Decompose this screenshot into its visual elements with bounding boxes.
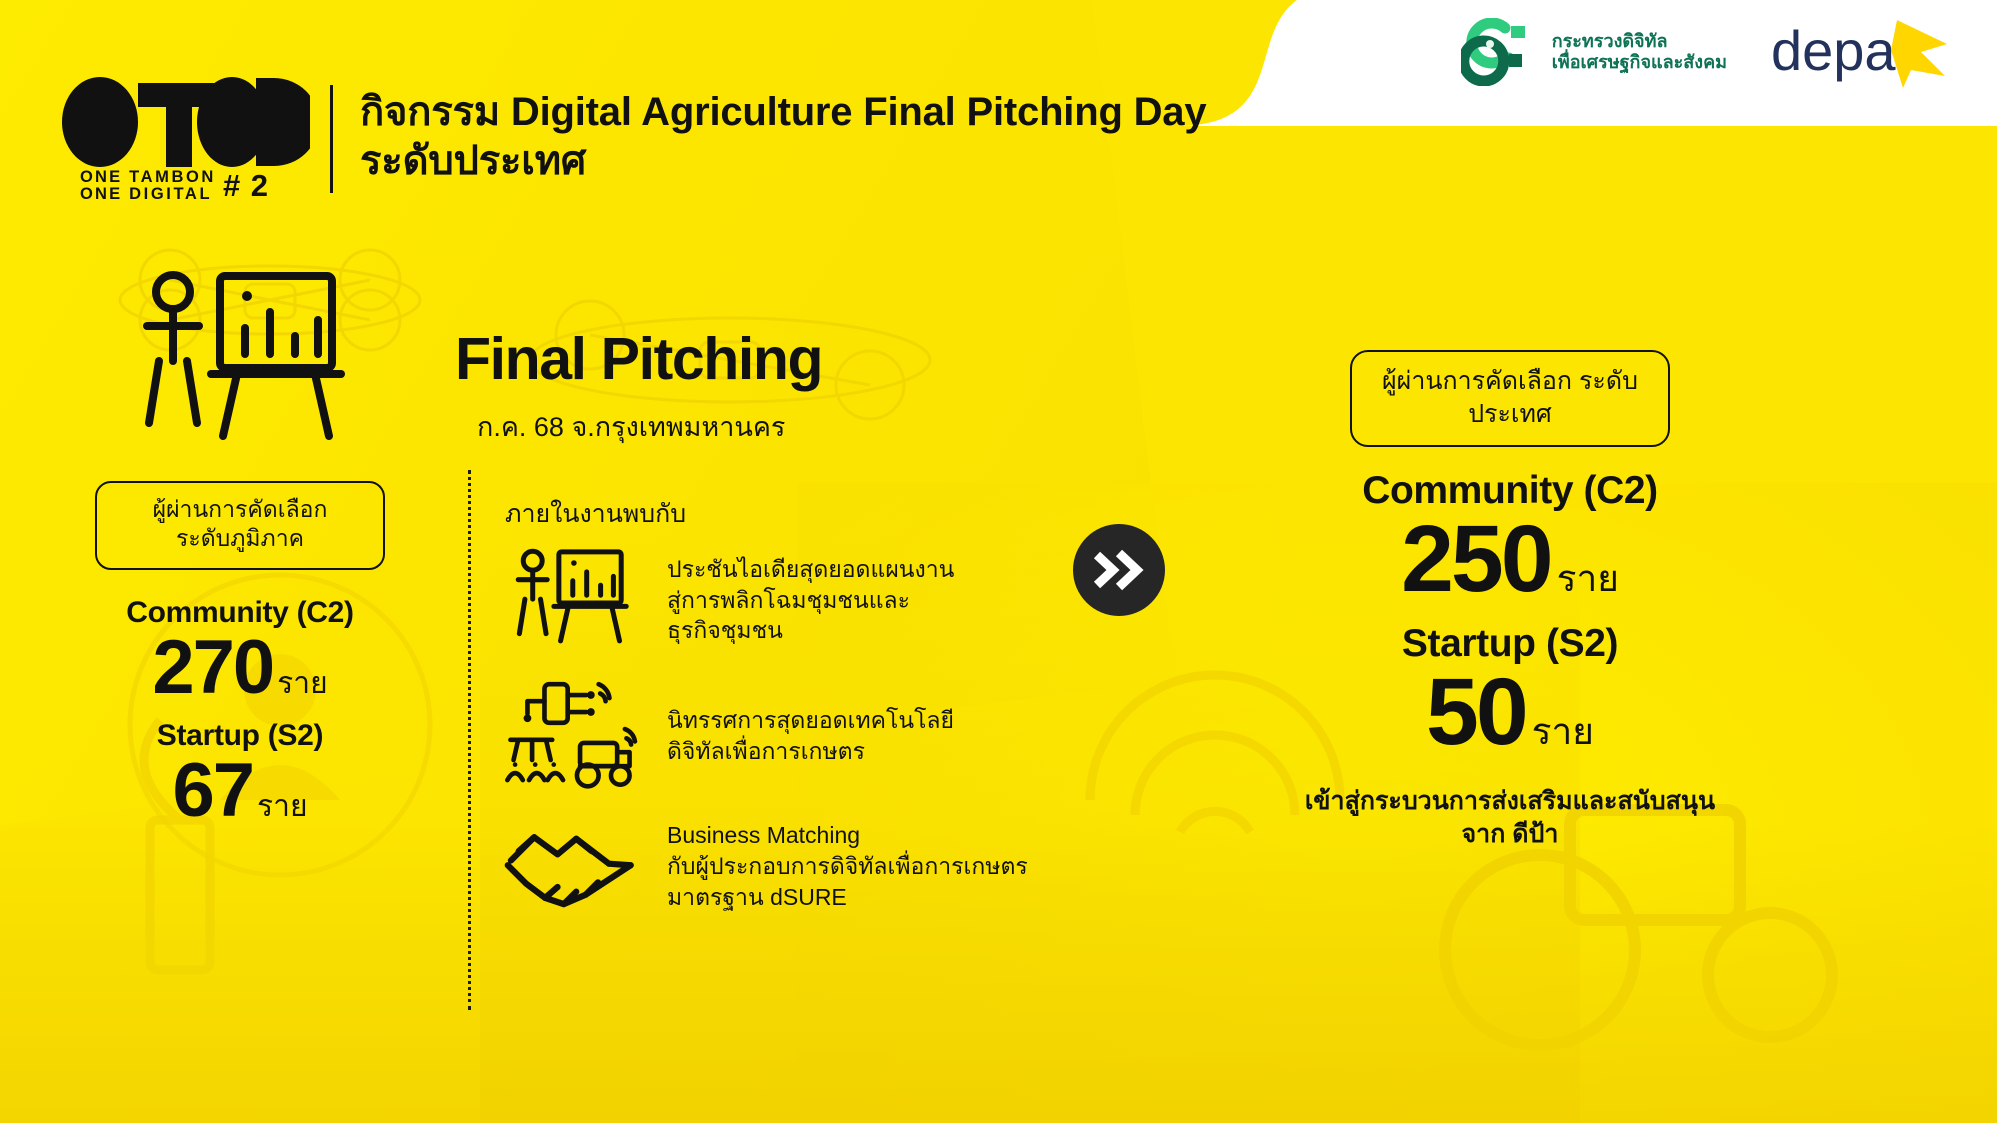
- left-badge-line2: ระดับภูมิภาค: [107, 524, 373, 553]
- feature-list: ประชันไอเดียสุดยอดแผนงาน สู่การพลิกโฉมชุ…: [495, 548, 1095, 912]
- double-chevron-right-icon: [1091, 549, 1147, 591]
- right-stats-column: ผู้ผ่านการคัดเลือก ระดับประเทศ Community…: [1280, 350, 1740, 850]
- right-footnote-line2: จาก ดีป้า: [1280, 818, 1740, 851]
- page-title-line1: กิจกรรม Digital Agriculture Final Pitchi…: [360, 90, 1206, 134]
- feature-2-line-1: นิทรรศการสุดยอดเทคโนโลยี: [667, 705, 954, 736]
- right-badge-line1: ผู้ผ่านการคัดเลือก: [1382, 367, 1572, 395]
- feature-icon-wrap: [495, 678, 645, 794]
- presentation-easel-icon: [125, 270, 355, 455]
- progress-arrow-badge: [1073, 524, 1165, 616]
- otod-line2-light: ONE: [80, 185, 122, 203]
- feature-item: ประชันไอเดียสุดยอดแผนงาน สู่การพลิกโฉมชุ…: [495, 548, 1095, 652]
- otod-line1-bold: TAMBON: [129, 168, 216, 186]
- right-footnote-line1: เข้าสู่กระบวนการส่งเสริมและสนับสนุน: [1280, 785, 1740, 818]
- left-badge-line1: ผู้ผ่านการคัดเลือก: [107, 495, 373, 524]
- feature-1-line-3: ธุรกิจชุมชน: [667, 615, 954, 646]
- right-stat-community: Community (C2) 250 ราย: [1280, 469, 1740, 608]
- feature-3-line-3: มาตรฐาน dSURE: [667, 882, 1028, 913]
- right-stat-community-value: 250: [1401, 513, 1551, 606]
- ministry-logo: กระทรวงดิจิทัล เพื่อเศรษฐกิจและสังคม: [1461, 18, 1727, 86]
- feature-item: Business Matching กับผู้ประกอบการดิจิทัล…: [495, 820, 1095, 912]
- right-stat-startup: Startup (S2) 50 ราย: [1280, 622, 1740, 761]
- left-badge: ผู้ผ่านการคัดเลือก ระดับภูมิภาค: [95, 481, 385, 570]
- header-divider: [330, 85, 333, 193]
- feature-1-line-2: สู่การพลิกโฉมชุมชนและ: [667, 585, 954, 616]
- page-title: กิจกรรม Digital Agriculture Final Pitchi…: [360, 88, 1480, 186]
- left-stat-startup: Startup (S2) 67 ราย: [80, 719, 400, 830]
- infographic-canvas: ONE TAMBON ONE DIGITAL # 2 กิจกรรม Digit…: [0, 0, 1997, 1123]
- left-stat-startup-value: 67: [172, 753, 253, 829]
- feature-2-line-2: ดิจิทัลเพื่อการเกษตร: [667, 736, 954, 767]
- center-column: Final Pitching ก.ค. 68 จ.กรุงเทพมหานคร ภ…: [455, 330, 1095, 912]
- otod-tagline: ONE TAMBON ONE DIGITAL # 2: [80, 168, 269, 204]
- feature-1-line-1: ประชันไอเดียสุดยอดแผนงาน: [667, 554, 954, 585]
- feature-item: นิทรรศการสุดยอดเทคโนโลยี ดิจิทัลเพื่อการ…: [495, 678, 1095, 794]
- depa-logo: depa: [1771, 14, 1961, 90]
- left-stat-community-unit: ราย: [277, 660, 328, 707]
- feature-text: Business Matching กับผู้ประกอบการดิจิทัล…: [667, 820, 1028, 912]
- left-stat-startup-unit: ราย: [257, 783, 308, 830]
- feature-icon-wrap: [495, 548, 645, 652]
- otod-logo: ONE TAMBON ONE DIGITAL # 2: [60, 76, 310, 168]
- handshake-icon: [500, 820, 640, 912]
- feature-3-line-1: Business Matching: [667, 820, 1028, 851]
- right-footnote: เข้าสู่กระบวนการส่งเสริมและสนับสนุน จาก …: [1280, 785, 1740, 850]
- otod-edition-number: # 2: [223, 168, 269, 204]
- left-easel-illustration: [80, 270, 400, 455]
- right-badge: ผู้ผ่านการคัดเลือก ระดับประเทศ: [1350, 350, 1670, 447]
- event-date-place: ก.ค. 68 จ.กรุงเทพมหานคร: [477, 405, 1095, 448]
- left-stat-community: Community (C2) 270 ราย: [80, 596, 400, 707]
- smart-farm-tech-icon: [495, 678, 645, 794]
- mdes-emblem-icon: [1461, 18, 1539, 86]
- left-stats-column: ผู้ผ่านการคัดเลือก ระดับภูมิภาค Communit…: [80, 270, 400, 830]
- feature-3-line-2: กับผู้ประกอบการดิจิทัลเพื่อการเกษตร: [667, 851, 1028, 882]
- feature-icon-wrap: [495, 820, 645, 912]
- otod-line2-bold: DIGITAL: [129, 185, 212, 203]
- feature-text: นิทรรศการสุดยอดเทคโนโลยี ดิจิทัลเพื่อการ…: [667, 705, 954, 767]
- ministry-name-line1: กระทรวงดิจิทัล: [1552, 31, 1727, 52]
- right-stat-startup-unit: ราย: [1532, 702, 1594, 761]
- right-stat-community-unit: ราย: [1557, 549, 1619, 608]
- presentation-easel-icon: [506, 548, 634, 652]
- otod-line1-light: ONE: [80, 168, 122, 186]
- right-stat-startup-value: 50: [1426, 666, 1526, 759]
- ministry-name-line2: เพื่อเศรษฐกิจและสังคม: [1552, 52, 1727, 73]
- feature-text: ประชันไอเดียสุดยอดแผนงาน สู่การพลิกโฉมชุ…: [667, 554, 954, 646]
- meet-label: ภายในงานพบกับ: [505, 494, 1095, 534]
- otod-wordmark-icon: [60, 76, 310, 168]
- partner-logos: กระทรวงดิจิทัล เพื่อเศรษฐกิจและสังคม dep…: [1461, 14, 1961, 90]
- left-stat-community-value: 270: [152, 630, 273, 706]
- depa-text: depa: [1771, 19, 1896, 82]
- page-title-line2: ระดับประเทศ: [360, 137, 1480, 186]
- depa-wordmark-icon: depa: [1771, 14, 1961, 90]
- final-pitching-title: Final Pitching: [455, 330, 1095, 389]
